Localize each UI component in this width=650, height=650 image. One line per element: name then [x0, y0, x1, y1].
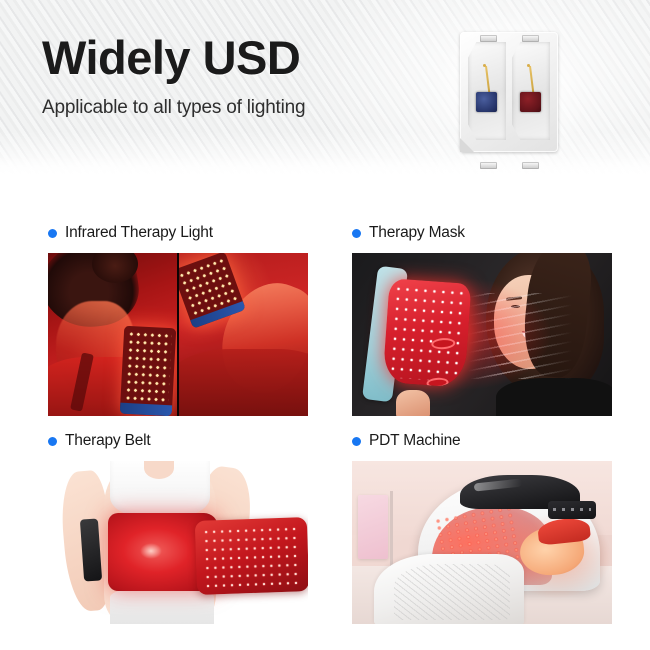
panel-control-strip	[120, 403, 173, 416]
chip-lead-top-right	[522, 35, 539, 42]
infrared-therapy-light-photo	[48, 253, 308, 416]
bullet-icon	[352, 229, 361, 238]
chip-cavity-right	[512, 42, 550, 140]
product-label-text: Therapy Belt	[65, 432, 150, 450]
therapy-mask-photo	[352, 253, 612, 416]
bond-pad-left	[483, 64, 486, 67]
chip-lead-bottom-right	[522, 162, 539, 169]
metal-stand	[390, 491, 393, 571]
product-label-infrared-therapy-light: Infrared Therapy Light	[48, 222, 308, 244]
red-led-die	[520, 92, 541, 112]
chip-lead-bottom-left	[480, 162, 497, 169]
therapy-belt-photo	[48, 461, 308, 624]
product-label-pdt-machine: PDT Machine	[352, 430, 612, 452]
product-label-text: Therapy Mask	[369, 224, 465, 242]
control-panel	[548, 501, 596, 519]
woman-hand	[396, 390, 430, 416]
banner-text-block: Widely USD Applicable to all types of li…	[42, 34, 305, 119]
product-label-therapy-mask: Therapy Mask	[352, 222, 612, 244]
led-face-mask	[382, 278, 471, 387]
led-dot-grid	[124, 330, 172, 412]
led-dot-grid	[388, 284, 466, 383]
pink-product-box	[358, 495, 388, 559]
white-towel	[374, 554, 524, 624]
photo-panel-left	[48, 253, 177, 416]
hero-banner: Widely USD Applicable to all types of li…	[0, 0, 650, 182]
led-panel-vertical	[120, 326, 177, 416]
product-label-therapy-belt: Therapy Belt	[48, 430, 308, 452]
product-cell-infrared-therapy-light: Infrared Therapy Light	[48, 222, 308, 416]
chip-lead-top-left	[480, 35, 497, 42]
bullet-icon	[352, 437, 361, 446]
banner-subheadline: Applicable to all types of lighting	[42, 97, 305, 119]
white-tank-top	[110, 461, 210, 517]
blue-led-die	[476, 92, 497, 112]
led-chip-illustration	[452, 22, 566, 162]
bond-pad-right	[527, 64, 530, 67]
product-cell-therapy-belt: Therapy Belt	[48, 430, 308, 624]
bullet-icon	[48, 437, 57, 446]
product-feature-page: Widely USD Applicable to all types of li…	[0, 0, 650, 650]
led-dot-grid	[202, 524, 302, 587]
white-pants	[110, 590, 214, 624]
led-therapy-pad	[195, 517, 308, 595]
bullet-icon	[48, 229, 57, 238]
chip-cavity-left	[468, 42, 506, 140]
photo-panel-right	[177, 253, 308, 416]
product-cell-pdt-machine: PDT Machine	[352, 430, 612, 624]
product-grid: Infrared Therapy Light	[0, 182, 650, 650]
banner-headline: Widely USD	[42, 34, 305, 81]
product-label-text: PDT Machine	[369, 432, 460, 450]
photo-split-divider	[177, 253, 179, 416]
pdt-machine-photo	[352, 461, 612, 624]
product-cell-therapy-mask: Therapy Mask	[352, 222, 612, 416]
belt-highlight	[140, 543, 162, 559]
bed-sheet	[177, 349, 308, 416]
product-label-text: Infrared Therapy Light	[65, 224, 213, 242]
